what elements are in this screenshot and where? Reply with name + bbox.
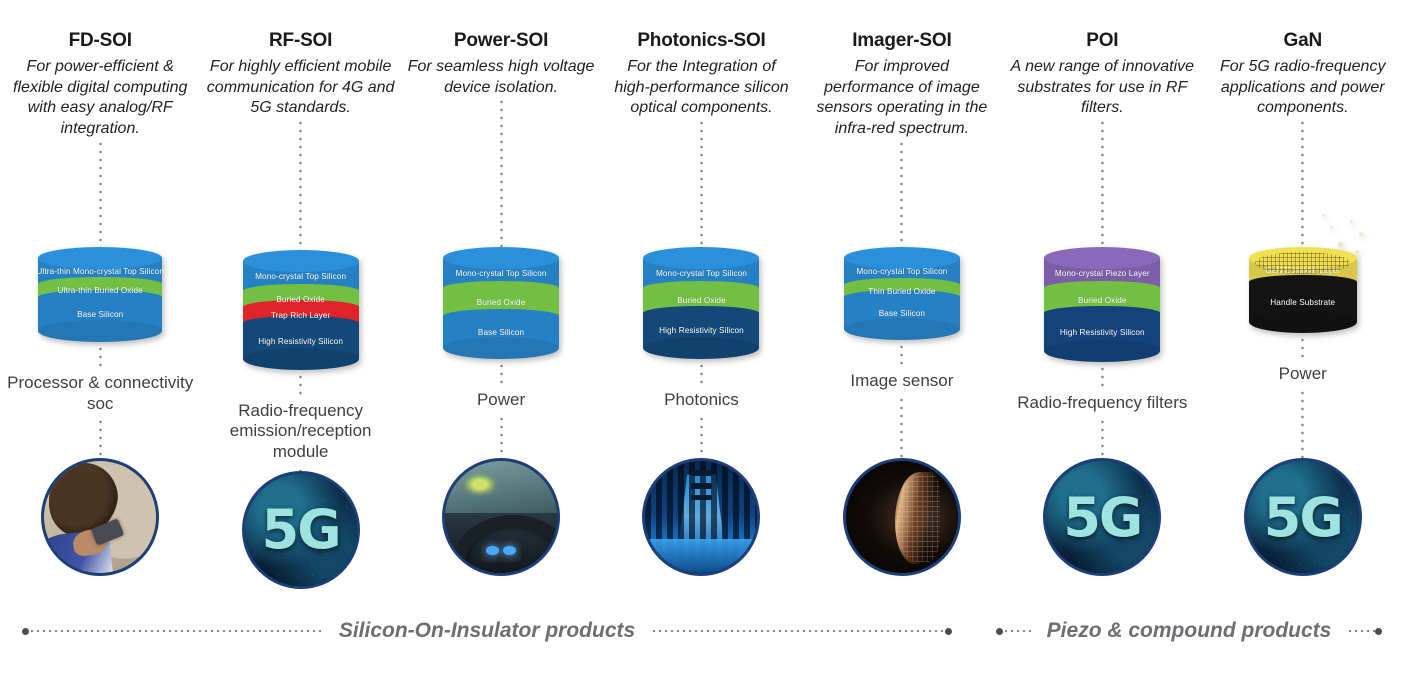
column-header: GaNFor 5G radio-frequency applications a…: [1203, 0, 1403, 119]
product-column-gan: GaNFor 5G radio-frequency applications a…: [1203, 0, 1403, 600]
connector-dots-top: [700, 119, 703, 257]
photo-shape-ir-mesh: [897, 474, 940, 561]
photo-shape-indicator-left: [486, 546, 498, 555]
group-dotted-line-right: [651, 630, 945, 632]
connector-dots-top: [500, 98, 503, 257]
application-label: Processor & connectivity soc: [0, 373, 200, 414]
wafer-layer-label: Handle Substrate: [1270, 299, 1335, 307]
product-column-rf-soi: RF-SOIFor highly efficient mobile commun…: [200, 0, 400, 600]
gan-grid-pattern: [1255, 252, 1350, 274]
photo-shape-floor: [645, 539, 757, 573]
product-description: A new range of innovative substrates for…: [1002, 57, 1202, 119]
sparkle-icon: [1350, 220, 1353, 223]
wafer-layer-label: Trap Rich Layer: [271, 312, 330, 320]
wafer-layer: Base Silicon: [443, 316, 559, 348]
photo-shape-panel: [691, 483, 711, 489]
column-header: FD-SOIFor power-efficient & flexible dig…: [0, 0, 200, 140]
product-column-photonics-soi: Photonics-SOIFor the Integration of high…: [601, 0, 801, 600]
group-end-dot-right: [945, 628, 952, 635]
connector-dots-middle: [700, 362, 703, 386]
column-header: Imager-SOIFor improved performance of im…: [802, 0, 1002, 140]
wafer-layer-label: Base Silicon: [879, 310, 925, 318]
product-description: For the Integration of high-performance …: [601, 57, 801, 119]
connector-dots-bottom: [900, 396, 903, 458]
soi-products-group: Silicon-On-Insulator products: [22, 619, 952, 643]
product-column-imager-soi: Imager-SOIFor improved performance of im…: [802, 0, 1002, 600]
wafer-layer-label: Mono-crystal Top Silicon: [456, 270, 547, 278]
connector-dots-bottom: [1101, 418, 1104, 458]
connector-dots-bottom: [99, 418, 102, 458]
photo-shape-panel: [691, 470, 711, 476]
wafer-layer: Base Silicon: [844, 297, 960, 329]
wafer-layer-label: Mono-crystal Top Silicon: [856, 268, 947, 276]
piezo-compound-products-label: Piezo & compound products: [1031, 619, 1348, 643]
connector-dots-middle: [900, 343, 903, 367]
wafer-layer-label: Ultra-thin Mono-crystal Top Silicon: [36, 268, 164, 276]
photonics-soi-wafer: Mono-crystal Top SiliconBuried OxideHigh…: [643, 258, 759, 348]
application-photo[interactable]: 5G: [1043, 458, 1161, 576]
photo-shape-panel: [691, 495, 711, 501]
sparkle-icon: [1330, 226, 1333, 229]
sparkle-icon: [1359, 232, 1363, 236]
column-header: RF-SOIFor highly efficient mobile commun…: [200, 0, 400, 119]
product-description: For power-efficient & flexible digital c…: [0, 57, 200, 140]
application-label: Radio-frequency filters: [1013, 393, 1191, 414]
application-label: Photonics: [660, 390, 743, 411]
application-photo[interactable]: 5G: [1244, 458, 1362, 576]
photo-inner: [645, 461, 757, 573]
group-end-dot-left: [22, 628, 29, 635]
photo-inner: [846, 461, 958, 573]
wafer-layer-label: Mono-crystal Top Silicon: [656, 270, 747, 278]
photo-shape-indicator-right: [503, 546, 515, 555]
photo-shape-hud-glow: [461, 472, 499, 497]
wafer-layer-label: Base Silicon: [478, 329, 524, 337]
product-title: Power-SOI: [401, 30, 601, 52]
application-label: Image sensor: [846, 371, 957, 392]
product-title: Photonics-SOI: [601, 30, 801, 52]
wafer-layer-label: Mono-crystal Piezo Layer: [1055, 270, 1150, 278]
power-soi-wafer: Mono-crystal Top SiliconBuried OxideBase…: [443, 258, 559, 348]
sparkle-icon: [1322, 214, 1325, 217]
photo-label-5g: 5G: [1247, 461, 1359, 573]
application-label: Power: [1275, 364, 1331, 385]
product-title: POI: [1002, 30, 1202, 52]
connector-dots-top: [1301, 119, 1304, 257]
wafer-layer-label: Buried Oxide: [477, 299, 526, 307]
column-header: Power-SOIFor seamless high voltage devic…: [401, 0, 601, 98]
imager-soi-wafer: Mono-crystal Top SiliconThin Buried Oxid…: [844, 258, 960, 329]
photo-inner: [44, 461, 156, 573]
photo-inner: 5G: [245, 474, 357, 586]
product-title: FD-SOI: [0, 30, 200, 52]
application-label: Radio-frequency emission/reception modul…: [200, 401, 400, 463]
connector-dots-bottom: [700, 415, 703, 458]
photo-label-5g: 5G: [245, 474, 357, 586]
connector-dots-middle: [299, 373, 302, 397]
wafer-layer-label: Buried Oxide: [1078, 297, 1127, 305]
connector-dots-top: [99, 140, 102, 257]
application-photo[interactable]: [442, 458, 560, 576]
product-title: Imager-SOI: [802, 30, 1002, 52]
connector-dots-bottom: [500, 415, 503, 458]
gan-wafer: GaN Epitaxial LayerHandle Substrate: [1249, 258, 1357, 322]
connector-dots-top: [900, 140, 903, 257]
wafer-layer: High Resistivity Silicon: [243, 323, 359, 359]
product-column-fd-soi: FD-SOIFor power-efficient & flexible dig…: [0, 0, 200, 600]
product-title: RF-SOI: [200, 30, 400, 52]
group-end-dot-right: [1375, 628, 1382, 635]
application-photo[interactable]: [843, 458, 961, 576]
application-label: Power: [473, 390, 529, 411]
group-dotted-line-right: [1347, 630, 1375, 632]
wafer-layer-label: Base Silicon: [77, 311, 123, 319]
rf-soi-wafer: Mono-crystal Top SiliconBuried OxideTrap…: [243, 261, 359, 359]
connector-dots-middle: [99, 345, 102, 369]
fd-soi-wafer: Ultra-thin Mono-crystal Top SiliconUltra…: [38, 258, 162, 331]
product-title: GaN: [1203, 30, 1403, 52]
piezo-compound-products-group: Piezo & compound products: [996, 619, 1382, 643]
product-description: For highly efficient mobile communicatio…: [200, 57, 400, 119]
wafer-layer: Base Silicon: [38, 297, 162, 331]
wafer-layer: High Resistivity Silicon: [1044, 313, 1160, 351]
wafer-layer-label: Buried Oxide: [677, 297, 726, 305]
photo-inner: 5G: [1046, 461, 1158, 573]
product-family-footer: Silicon-On-Insulator products Piezo & co…: [0, 605, 1403, 683]
soi-products-label: Silicon-On-Insulator products: [323, 619, 651, 643]
group-dotted-line-left: [29, 630, 323, 632]
connector-dots-middle: [1101, 365, 1104, 389]
column-header: Photonics-SOIFor the Integration of high…: [601, 0, 801, 119]
group-dotted-line-left: [1003, 630, 1031, 632]
connector-dots-top: [299, 119, 302, 259]
product-description: For seamless high voltage device isolati…: [401, 57, 601, 99]
wafer-layer-label: Buried Oxide: [276, 296, 325, 304]
wafer-layer: High Resistivity Silicon: [643, 313, 759, 348]
connector-dots-middle: [500, 362, 503, 386]
connector-dots-middle: [1301, 336, 1304, 360]
photo-label-5g: 5G: [1046, 461, 1158, 573]
column-header: POIA new range of innovative substrates …: [1002, 0, 1202, 119]
photo-inner: [445, 461, 557, 573]
product-column-power-soi: Power-SOIFor seamless high voltage devic…: [401, 0, 601, 600]
wafer-layer-label: Mono-crystal Top Silicon: [255, 273, 346, 281]
sparkle-icon: [1355, 250, 1359, 254]
sparkle-icon: [1338, 242, 1343, 247]
wafer-layer: Handle Substrate: [1249, 282, 1357, 322]
photo-inner: 5G: [1247, 461, 1359, 573]
product-portfolio-diagram: FD-SOIFor power-efficient & flexible dig…: [0, 0, 1403, 683]
connector-dots-top: [1101, 119, 1104, 257]
application-photo[interactable]: [41, 458, 159, 576]
product-description: For 5G radio-frequency applications and …: [1203, 57, 1403, 119]
application-photo[interactable]: [642, 458, 760, 576]
product-description: For improved performance of image sensor…: [802, 57, 1002, 140]
product-columns: FD-SOIFor power-efficient & flexible dig…: [0, 0, 1403, 600]
wafer-layer-label: High Resistivity Silicon: [258, 338, 343, 346]
wafer-layer-label: High Resistivity Silicon: [659, 327, 744, 335]
poi-wafer: Mono-crystal Piezo LayerBuried OxideHigh…: [1044, 258, 1160, 351]
wafer-layer-label: Ultra-thin Buried Oxide: [58, 287, 143, 295]
wafer-layer-label: High Resistivity Silicon: [1060, 329, 1145, 337]
wafer-layer-label: Thin Buried Oxide: [868, 288, 935, 296]
group-end-dot-left: [996, 628, 1003, 635]
product-column-poi: POIA new range of innovative substrates …: [1002, 0, 1202, 600]
application-photo[interactable]: 5G: [242, 471, 360, 589]
connector-dots-bottom: [1301, 389, 1304, 458]
